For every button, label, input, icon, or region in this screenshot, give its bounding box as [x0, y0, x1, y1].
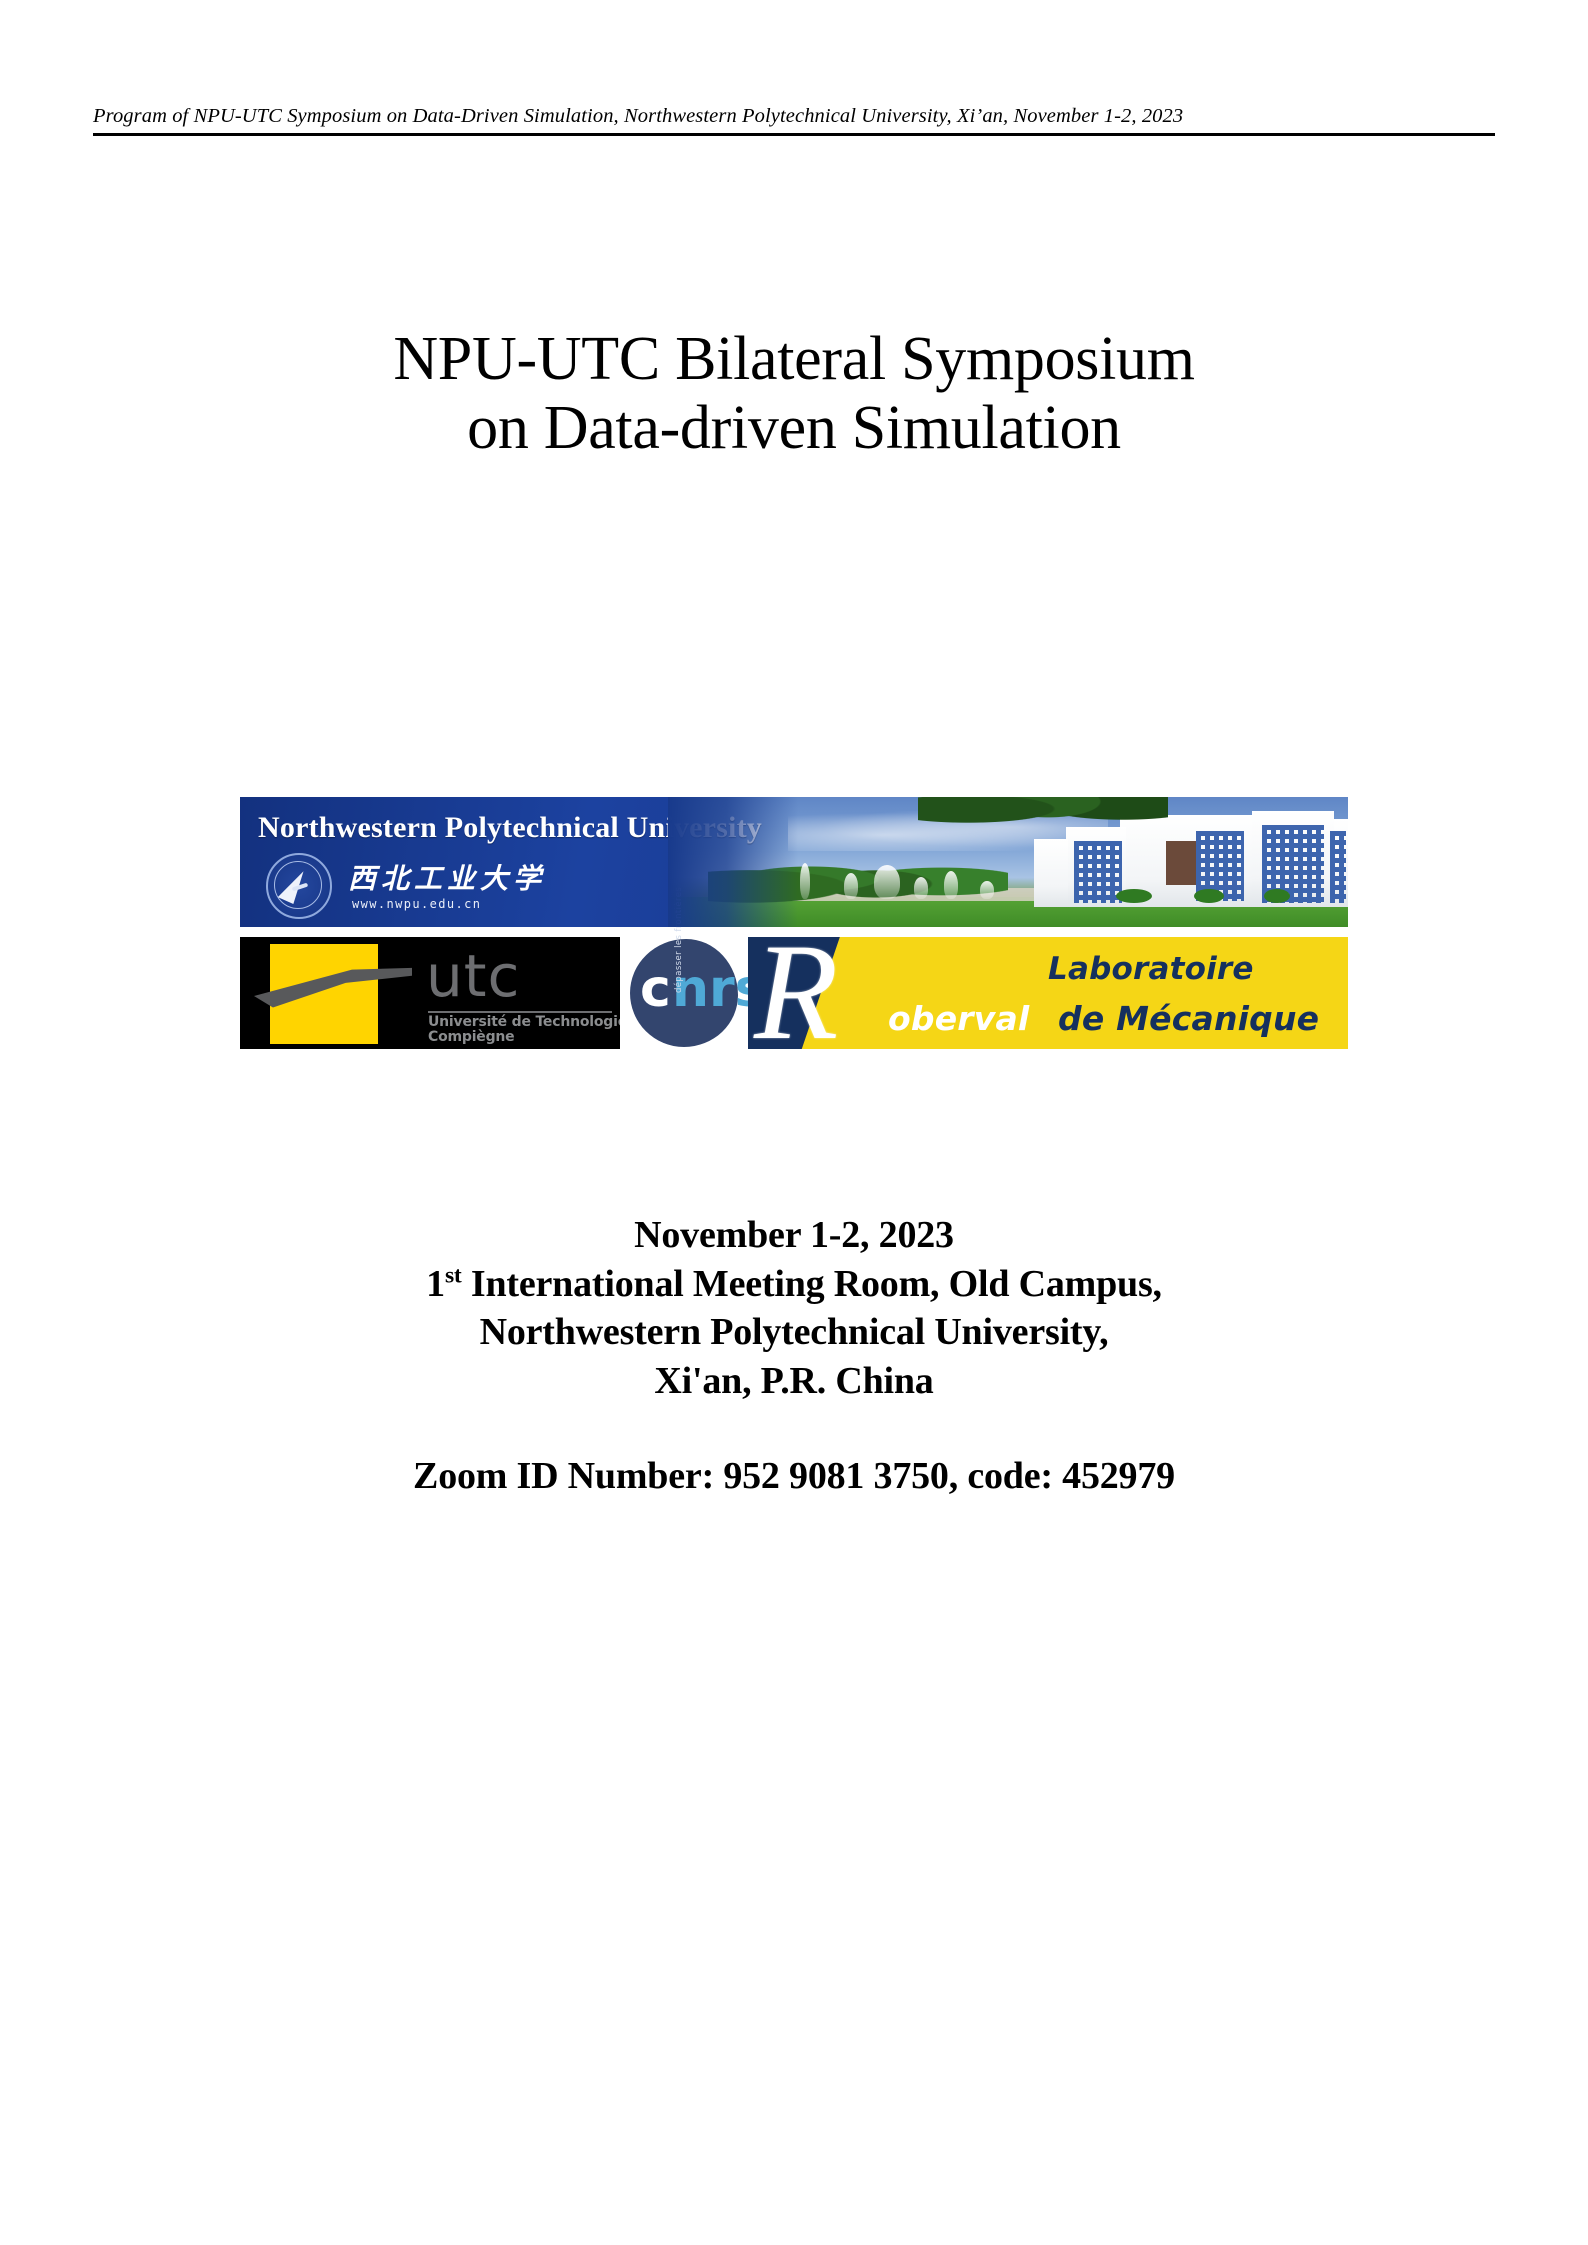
photo-gradient-fade	[668, 797, 798, 927]
fountain-jet	[944, 871, 958, 899]
utc-subtitle-line-1: Université de Technologie	[428, 1015, 620, 1030]
roberval-mecanique-text: de Mécanique	[1058, 999, 1319, 1038]
foreground-tree-canopy	[918, 797, 1168, 841]
window-grid-far	[1330, 831, 1346, 903]
fountain-jet	[980, 881, 994, 899]
logo-band: Northwestern Polytechnical University 西北…	[240, 797, 1350, 1049]
page-title-line-2: on Data-driven Simulation	[0, 394, 1588, 463]
page-running-header: Program of NPU-UTC Symposium on Data-Dri…	[93, 104, 1495, 136]
utc-subtitle-line-2: Compiègne	[428, 1030, 620, 1045]
utc-rule	[428, 1011, 612, 1013]
event-details: November 1-2, 2023 1st International Mee…	[0, 1211, 1588, 1500]
shrub	[1264, 889, 1290, 903]
npu-campus-photo	[668, 797, 1348, 927]
building-left	[1034, 839, 1068, 907]
utc-subtitle: Université de Technologie Compiègne	[428, 1015, 620, 1045]
cnrs-logo: c nrs dépasser les frontières	[626, 937, 744, 1049]
page-title: NPU-UTC Bilateral Symposium on Data-driv…	[0, 325, 1588, 464]
roberval-oberval-text: oberval	[888, 999, 1029, 1038]
shrub	[1194, 889, 1224, 903]
event-venue: 1st International Meeting Room, Old Camp…	[0, 1260, 1588, 1309]
zoom-meeting-info: Zoom ID Number: 952 9081 3750, code: 452…	[0, 1452, 1588, 1501]
venue-name: International Meeting Room, Old Campus,	[462, 1263, 1162, 1305]
partner-logos-row: utc Université de Technologie Compiègne …	[240, 937, 1348, 1049]
venue-ordinal-suffix: st	[445, 1262, 462, 1288]
roberval-logo: R Laboratoire oberval de Mécanique	[748, 937, 1348, 1049]
event-date: November 1-2, 2023	[0, 1211, 1588, 1260]
running-header-text: Program of NPU-UTC Symposium on Data-Dri…	[93, 104, 1495, 130]
fountain-jet	[844, 873, 858, 899]
npu-banner-logo: Northwestern Polytechnical University 西北…	[240, 797, 1348, 927]
fountain-jet	[874, 865, 900, 899]
fountain-jet	[800, 863, 810, 899]
utc-wordmark: utc	[426, 947, 520, 1005]
roberval-r-monogram: R	[754, 937, 838, 1049]
fountain-jet	[914, 877, 928, 899]
page-title-line-1: NPU-UTC Bilateral Symposium	[0, 325, 1588, 394]
cnrs-wordmark-c: c	[640, 963, 671, 1015]
shrub	[1116, 889, 1152, 903]
npu-seal-icon	[266, 853, 332, 919]
event-institution: Northwestern Polytechnical University,	[0, 1308, 1588, 1357]
utc-logo: utc Université de Technologie Compiègne	[240, 937, 620, 1049]
event-city: Xi'an, P.R. China	[0, 1357, 1588, 1406]
npu-website-url: www.nwpu.edu.cn	[352, 897, 481, 911]
roberval-laboratoire-text: Laboratoire	[1048, 951, 1254, 987]
building-entrance	[1166, 841, 1196, 885]
window-grid-mid	[1074, 841, 1122, 903]
venue-ordinal-number: 1	[426, 1263, 445, 1305]
header-divider-rule	[93, 133, 1495, 136]
npu-chinese-name: 西北工业大学	[348, 857, 546, 897]
